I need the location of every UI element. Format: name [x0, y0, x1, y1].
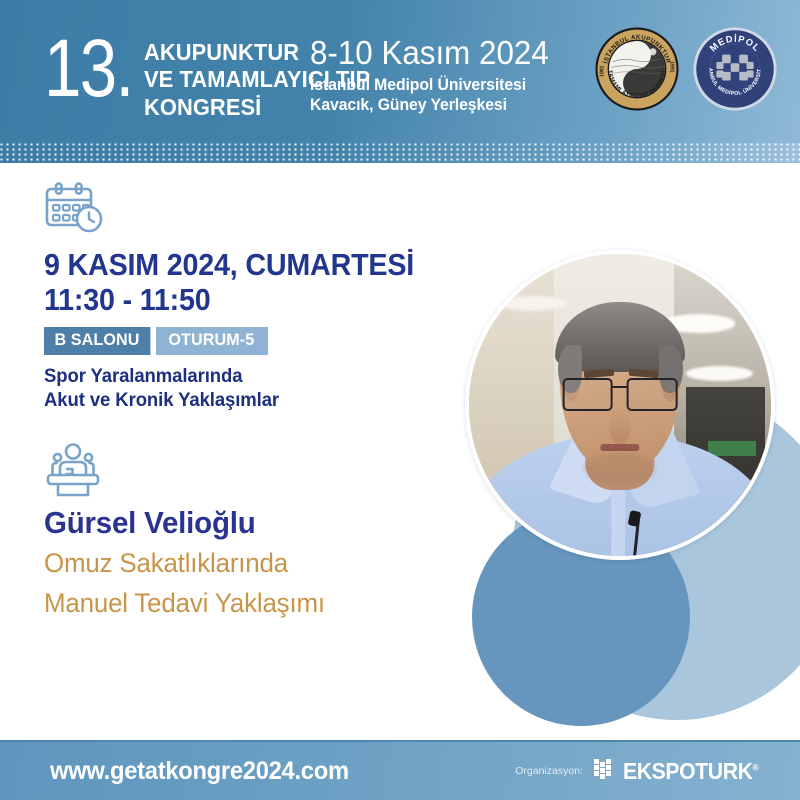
registered-mark: ®	[753, 762, 759, 772]
speaker-name: Gürsel Velioğlu	[44, 506, 443, 540]
congress-edition-number: 13.	[44, 31, 133, 107]
svg-text:1991: 1991	[669, 61, 675, 72]
poster-header: 13. AKUPUNKTUR VE TAMAMLAYICI TIP KONGRE…	[0, 0, 800, 143]
organizer-label: Organizasyon:	[515, 765, 583, 777]
speaker-talk-line-1: Omuz Sakatlıklarında	[44, 547, 447, 579]
ekspoturk-mark-icon	[593, 758, 619, 784]
congress-date-venue: 8-10 Kasım 2024 İstanbul Medipol Ünivers…	[310, 36, 561, 116]
ekspoturk-logo: EKSPOTURK®	[593, 758, 770, 785]
medipol-university-logo: MEDİPOL İSTANBUL MEDİPOL ÜNİVERSİTESİ	[692, 26, 778, 112]
header-logos: İSTANBUL AKUPUNKTUR TAMAMLAYICI TIP DERN…	[594, 26, 778, 112]
hall-badge: B SALONU	[44, 327, 150, 355]
session-topic-line-1: Spor Yaralanmalarında	[44, 364, 443, 388]
svg-text:1991: 1991	[599, 65, 605, 76]
session-badges: B SALONU OTURUM-5	[44, 327, 273, 355]
session-number-badge: OTURUM-5	[156, 327, 268, 355]
poster-footer: www.getatkongre2024.com Organizasyon:	[0, 740, 800, 800]
session-time: 11:30 - 11:50	[44, 283, 439, 318]
venue-line-1: İstanbul Medipol Üniversitesi	[310, 75, 544, 96]
speaker-talk-line-2: Manuel Tedavi Yaklaşımı	[44, 587, 447, 619]
session-topic-line-2: Akut ve Kronik Yaklaşımlar	[44, 388, 443, 412]
venue-line-2: Kavacık, Güney Yerleşkesi	[310, 95, 544, 116]
session-date: 9 KASIM 2024, CUMARTESİ	[44, 248, 439, 283]
congress-website-url[interactable]: www.getatkongre2024.com	[50, 757, 349, 786]
congress-dates: 8-10 Kasım 2024	[310, 36, 549, 70]
session-details: 9 KASIM 2024, CUMARTESİ 11:30 - 11:50 B …	[44, 182, 464, 619]
speaker-details: Gürsel Velioğlu Omuz Sakatlıklarında Man…	[44, 442, 464, 619]
organizer-block: Organizasyon: EKSPOTURK®	[515, 758, 770, 785]
podium-speaker-icon	[44, 442, 102, 498]
conference-session-poster: 13. AKUPUNKTUR VE TAMAMLAYICI TIP KONGRE…	[0, 0, 800, 800]
ekspoturk-name: EKSPOTURK	[623, 758, 753, 784]
calendar-clock-icon	[44, 182, 106, 236]
association-logo: İSTANBUL AKUPUNKTUR TAMAMLAYICI TIP DERN…	[594, 26, 680, 112]
header-dot-pattern-strip	[0, 143, 800, 163]
ekspoturk-wordmark: EKSPOTURK®	[623, 758, 758, 785]
speaker-photo	[465, 250, 775, 560]
